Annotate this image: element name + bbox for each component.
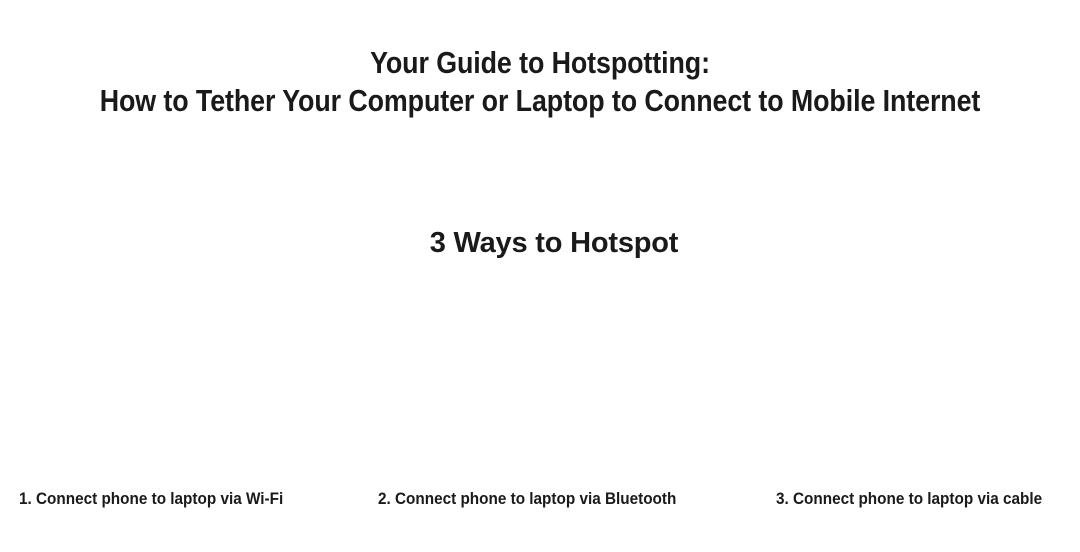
page-title-line-2: How to Tether Your Computer or Laptop to…: [73, 82, 1007, 120]
cable-tether-illustration: [720, 286, 1080, 478]
method-caption-wifi: 1. Connect phone to laptop via Wi-Fi: [19, 487, 283, 511]
method-caption-bluetooth: 2. Connect phone to laptop via Bluetooth: [378, 487, 676, 511]
wifi-tether-illustration: [0, 286, 360, 478]
bluetooth-tether-illustration: [360, 286, 720, 478]
article-page: Your Guide to Hotspotting: How to Tether…: [0, 0, 1080, 552]
caption-row: 1. Connect phone to laptop via Wi-Fi 2. …: [0, 487, 1080, 513]
page-title: Your Guide to Hotspotting: How to Tether…: [0, 44, 1080, 120]
page-title-line-1: Your Guide to Hotspotting:: [73, 44, 1007, 82]
illustration-strip: [0, 286, 1080, 478]
section-heading-text: 3 Ways to Hotspot: [430, 224, 678, 262]
method-caption-cable: 3. Connect phone to laptop via cable: [776, 487, 1042, 511]
section-heading: 3 Ways to Hotspot: [0, 224, 1080, 262]
